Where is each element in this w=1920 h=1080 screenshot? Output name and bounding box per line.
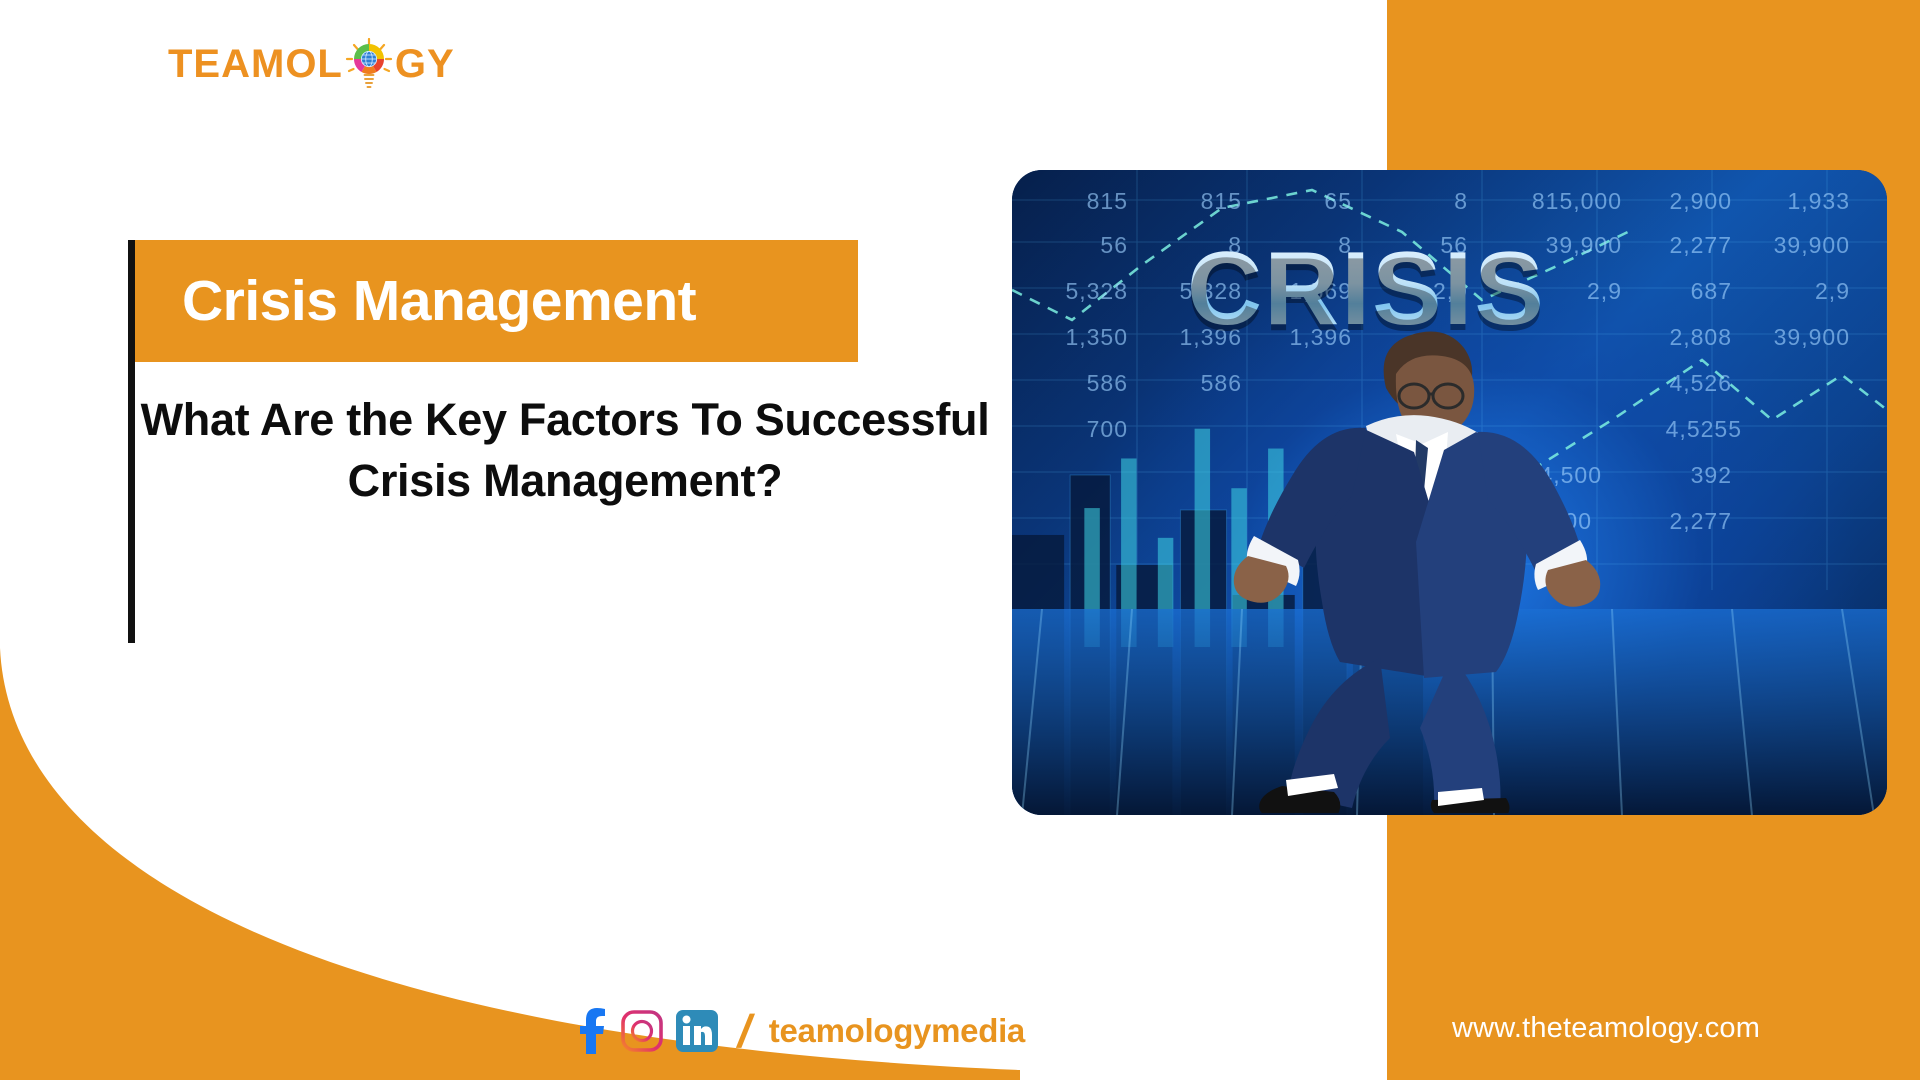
number-cell: 39,900 (1750, 324, 1850, 351)
lightbulb-globe-icon (344, 38, 394, 90)
category-label: Crisis Management (135, 273, 696, 330)
facebook-icon[interactable] (578, 1008, 608, 1054)
linkedin-icon[interactable] (676, 1010, 718, 1052)
logo-text-right: GY (395, 44, 455, 84)
brand-logo[interactable]: TEAMOL (168, 38, 455, 90)
number-cell: 65 (1262, 188, 1352, 215)
number-cell: 1,933 (1750, 188, 1850, 215)
number-cell: 5,328 (1024, 278, 1128, 305)
instagram-icon[interactable] (621, 1010, 663, 1052)
left-accent-bar (128, 240, 135, 643)
separator-slash: / (734, 1008, 757, 1054)
social-handle[interactable]: teamologymedia (769, 1012, 1025, 1050)
number-cell: 2,277 (1632, 232, 1732, 259)
category-banner: Crisis Management (135, 240, 858, 362)
number-cell: 2,9 (1750, 278, 1850, 305)
number-cell: 39,900 (1750, 232, 1850, 259)
hero-image: 815 815 65 8 56 8 8 56 5,328 5,328 1,569… (1012, 170, 1887, 815)
number-cell: 8 (1378, 188, 1468, 215)
number-cell: 56 (1024, 232, 1128, 259)
number-cell: 815 (1024, 188, 1128, 215)
website-url[interactable]: www.theteamology.com (1452, 1012, 1760, 1045)
logo-text-left: TEAMOL (168, 44, 343, 84)
number-cell: 815 (1152, 188, 1242, 215)
businessman-figure (1190, 288, 1650, 813)
number-cell: 815,000 (1492, 188, 1622, 215)
number-cell: 2,900 (1632, 188, 1732, 215)
number-cell: 1,350 (1024, 324, 1128, 351)
footer-social-group: / teamologymedia (578, 1006, 1025, 1056)
headline-text: What Are the Key Factors To Successful C… (135, 390, 995, 512)
